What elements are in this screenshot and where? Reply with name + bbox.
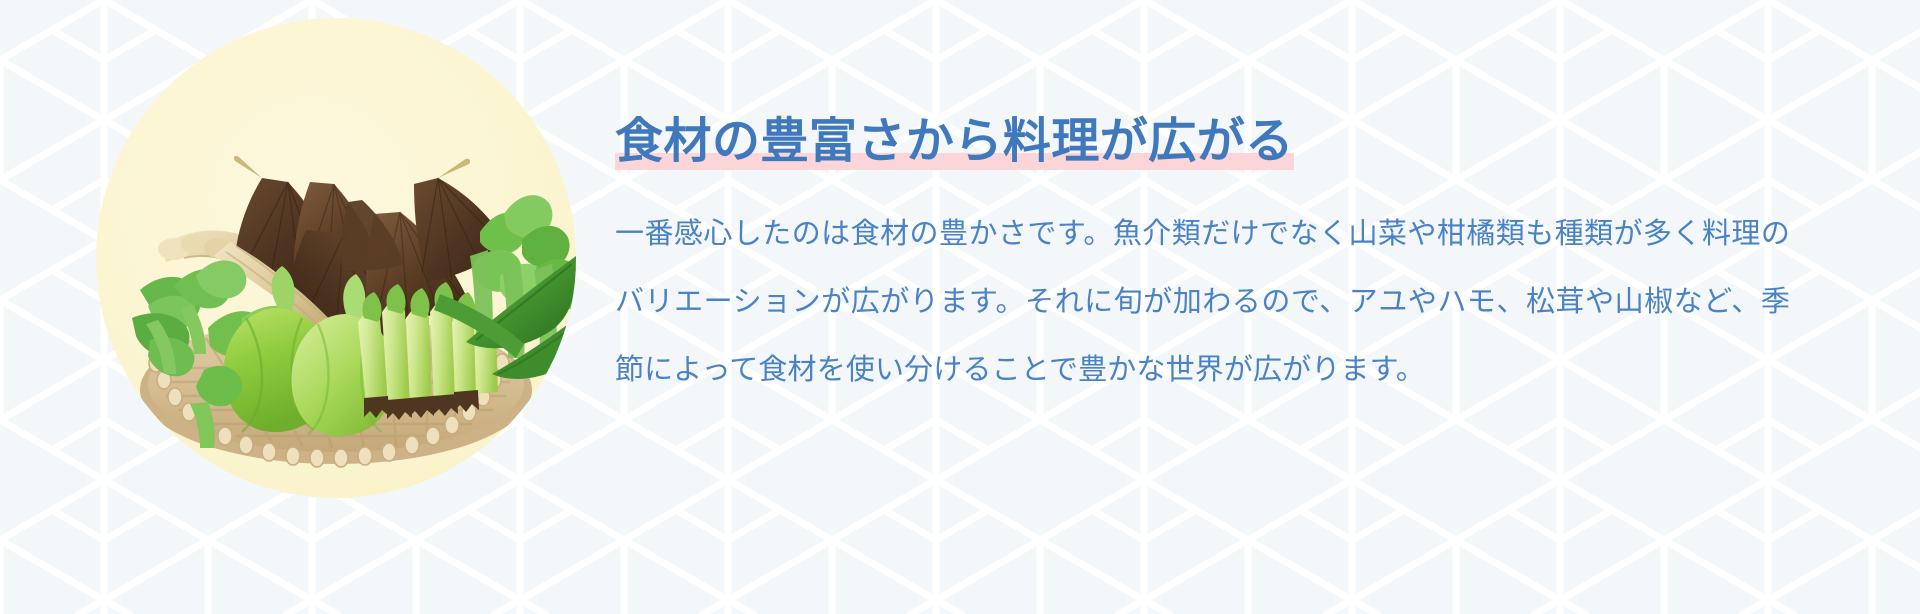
sansai-basket-graphic xyxy=(96,18,576,498)
text-column: 食材の豊富さから料理が広がる 一番感心したのは食材の豊かさです。魚介類だけでなく… xyxy=(615,0,1815,614)
ingredient-richness-section: 食材の豊富さから料理が広がる 一番感心したのは食材の豊かさです。魚介類だけでなく… xyxy=(0,0,1920,614)
body-paragraph: 一番感心したのは食材の豊かさです。魚介類だけでなく山菜や柑橘類も種類が多く料理の… xyxy=(615,200,1790,404)
heading-wrapper: 食材の豊富さから料理が広がる xyxy=(615,112,1294,172)
sansai-illustration xyxy=(96,18,576,498)
heading-highlight-underline xyxy=(615,153,1294,170)
page-title: 食材の豊富さから料理が広がる xyxy=(615,112,1294,172)
